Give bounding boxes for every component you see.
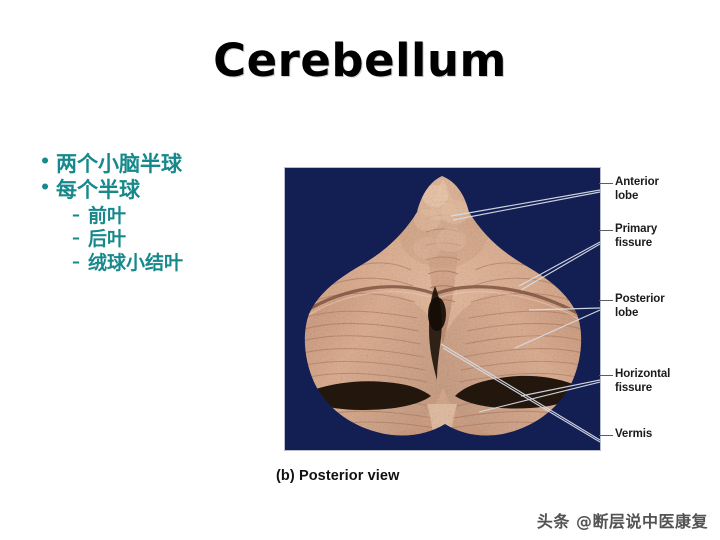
page-title: Cerebellum bbox=[0, 38, 720, 83]
leader-stub bbox=[599, 183, 613, 184]
sub-list-item: – 前叶 bbox=[72, 205, 249, 228]
list-item-label: 两个小脑半球 bbox=[56, 152, 249, 177]
list-item: • 每个半球 bbox=[34, 178, 249, 203]
dash-marker-icon: – bbox=[72, 205, 88, 225]
bullet-marker-icon: • bbox=[34, 178, 56, 200]
cerebellum-specimen-image bbox=[285, 168, 600, 450]
leader-stub bbox=[599, 435, 613, 436]
sub-list-item-label: 前叶 bbox=[88, 205, 249, 228]
cerebellum-photo-panel bbox=[284, 167, 601, 451]
leader-stub bbox=[599, 300, 613, 301]
label-anterior-lobe: Anterior lobe bbox=[615, 175, 659, 204]
figure-block bbox=[284, 167, 601, 451]
bullet-list: • 两个小脑半球 • 每个半球 – 前叶 – 后叶 – 绒球小结叶 bbox=[34, 152, 249, 276]
label-posterior-lobe: Posterior lobe bbox=[615, 292, 665, 321]
list-item: • 两个小脑半球 bbox=[34, 152, 249, 177]
dash-marker-icon: – bbox=[72, 252, 88, 272]
bullet-marker-icon: • bbox=[34, 152, 56, 174]
label-horizontal-fissure: Horizontal fissure bbox=[615, 367, 670, 396]
figure-label-group: Anterior lobe Primary fissure Posterior … bbox=[601, 167, 719, 451]
sub-list-item-label: 后叶 bbox=[88, 228, 249, 251]
list-item-label: 每个半球 bbox=[56, 178, 249, 203]
figure-caption: (b) Posterior view bbox=[276, 468, 399, 484]
dash-marker-icon: – bbox=[72, 228, 88, 248]
sub-list-item: – 绒球小结叶 bbox=[72, 252, 249, 275]
label-vermis: Vermis bbox=[615, 427, 652, 441]
label-primary-fissure: Primary fissure bbox=[615, 222, 657, 251]
sub-list-item-label: 绒球小结叶 bbox=[88, 252, 249, 275]
leader-stub bbox=[599, 230, 613, 231]
sub-bullet-list: – 前叶 – 后叶 – 绒球小结叶 bbox=[72, 205, 249, 275]
sub-list-item: – 后叶 bbox=[72, 228, 249, 251]
watermark: 头条 @断层说中医康复 bbox=[537, 508, 708, 532]
leader-stub bbox=[599, 375, 613, 376]
